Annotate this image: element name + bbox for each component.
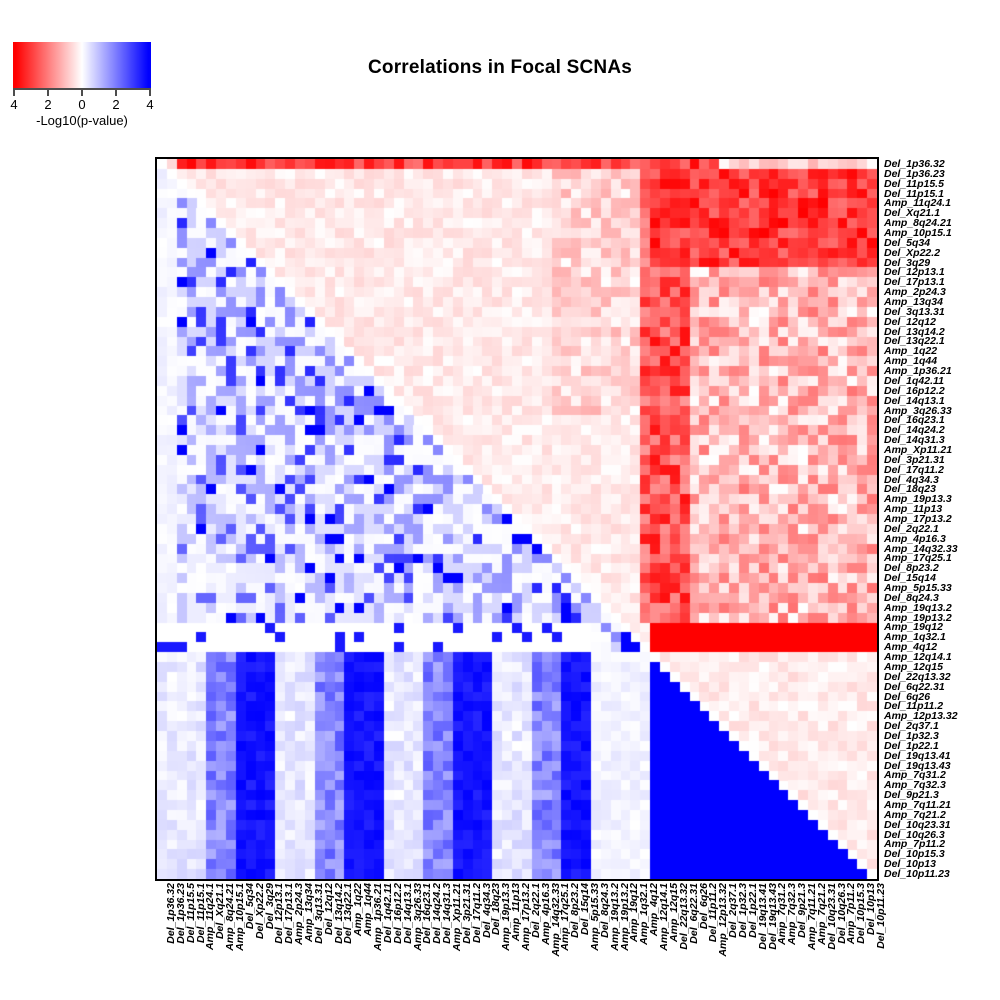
color-legend-caption: -Log10(p-value) (13, 113, 151, 128)
color-legend-tick (81, 88, 83, 96)
color-legend-tick-labels: 42024 (13, 96, 151, 112)
color-legend-tick-label: 2 (112, 97, 119, 112)
color-legend: 42024 -Log10(p-value) (13, 42, 151, 128)
heatmap-column-labels: Del_1p36.32Del_1p36.23Del_11p15.5Del_11p… (155, 883, 879, 1000)
color-legend-tick-label: 0 (78, 97, 85, 112)
color-legend-tick-label: 4 (10, 97, 17, 112)
color-legend-tick (149, 88, 151, 96)
heatmap-row-labels: Del_1p36.32Del_1p36.23Del_11p15.5Del_11p… (884, 159, 1000, 879)
heatmap-grid[interactable] (157, 159, 877, 879)
column-label: Del_10p11.23 (875, 883, 887, 949)
row-label: Del_10p11.23 (884, 868, 950, 880)
color-legend-gradient-bar (13, 42, 151, 88)
color-legend-tick-label: 2 (44, 97, 51, 112)
color-legend-tick (13, 88, 15, 96)
color-legend-tick (115, 88, 117, 96)
color-legend-axis (13, 88, 151, 96)
color-legend-tick (47, 88, 49, 96)
heatmap-plot-frame (155, 157, 879, 881)
color-legend-tick-label: 4 (146, 97, 153, 112)
